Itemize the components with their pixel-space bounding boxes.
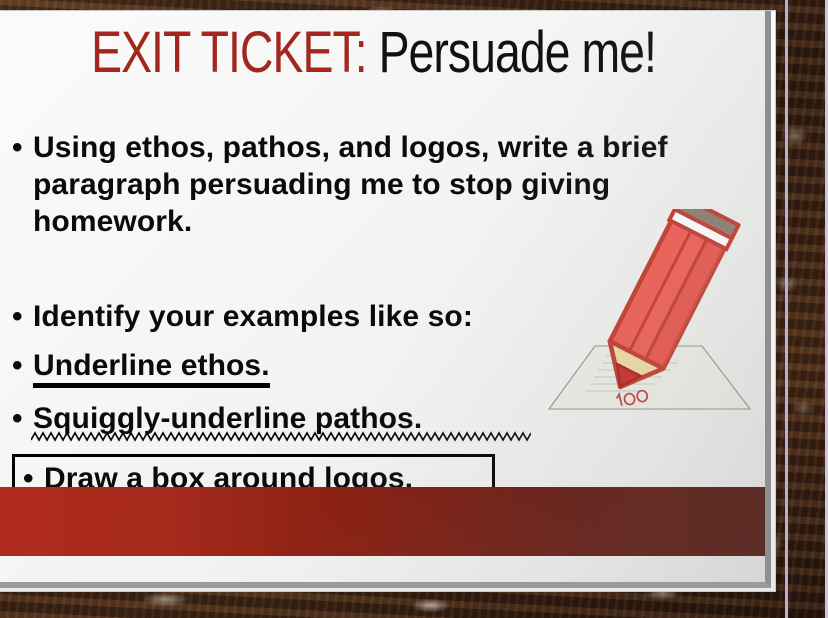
- bullet-list: • Using ethos, pathos, and logos, write …: [12, 129, 702, 437]
- list-item: • Using ethos, pathos, and logos, write …: [12, 129, 702, 240]
- footer-accent-bar: [0, 487, 765, 556]
- list-item-label-underlined: Underline ethos.: [33, 349, 270, 388]
- bullet-marker-icon: •: [12, 400, 32, 437]
- slide-backdrop: EXIT TICKET: Persuade me! • Using ethos,…: [0, 0, 828, 618]
- bullet-marker-icon: •: [12, 129, 32, 166]
- slide-canvas: EXIT TICKET: Persuade me! • Using ethos,…: [0, 11, 765, 582]
- squiggly-underline-icon: [31, 431, 531, 443]
- title-part-exit-ticket: EXIT TICKET:: [91, 20, 367, 85]
- list-item: • Identify your examples like so:: [12, 298, 702, 335]
- title-part-persuade-me: Persuade me!: [367, 20, 656, 85]
- right-guide-rule: [785, 0, 788, 618]
- list-item-label: Identify your examples like so:: [33, 298, 702, 335]
- list-item: • Underline ethos.: [12, 347, 702, 388]
- squiggly-bullet-wrapper: • Squiggly-underline pathos.: [12, 400, 702, 437]
- page-title: EXIT TICKET: Persuade me!: [60, 23, 686, 83]
- list-item-label: Using ethos, pathos, and logos, write a …: [33, 129, 673, 240]
- bullet-marker-icon: •: [12, 298, 32, 335]
- bullet-marker-icon: •: [12, 347, 32, 384]
